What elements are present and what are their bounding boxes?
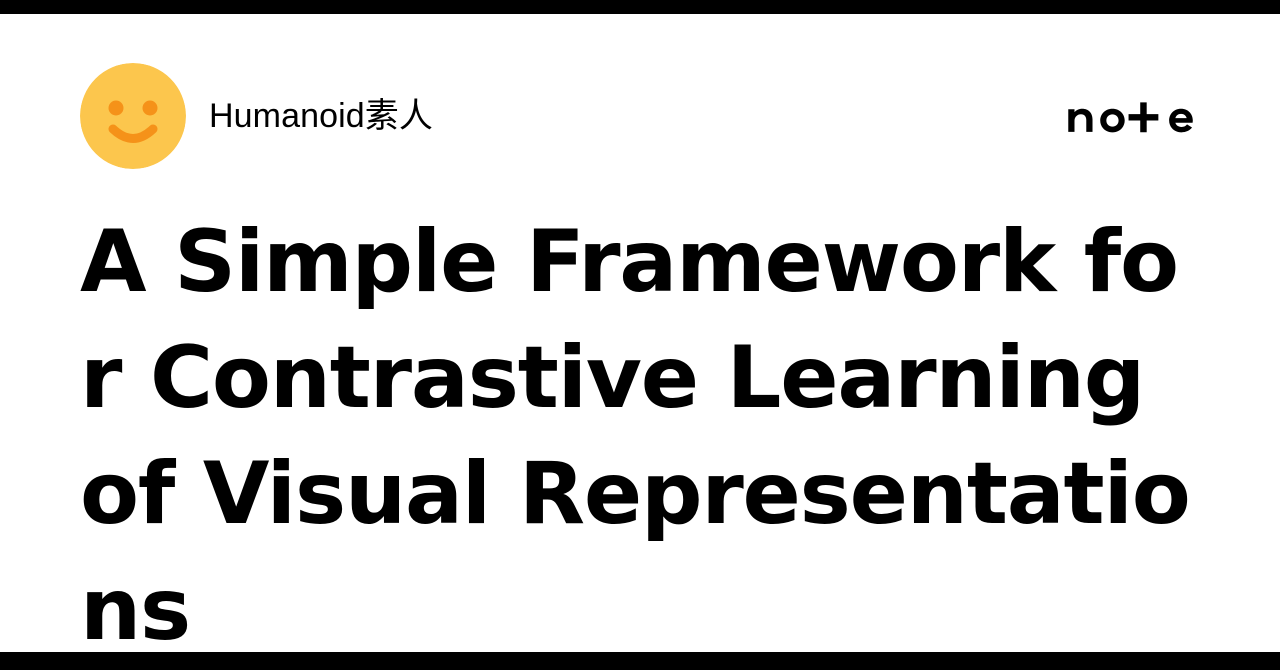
note-article-ogp-card: Humanoid素人 A Simple Framework for Contra… [0, 0, 1280, 670]
bottom-letterbox-bar [0, 652, 1280, 670]
article-header: Humanoid素人 [80, 63, 1200, 169]
top-letterbox-bar [0, 0, 1280, 14]
note-logo-icon[interactable] [1066, 99, 1200, 133]
author-name: Humanoid素人 [209, 99, 433, 133]
card-body: Humanoid素人 A Simple Framework for Contra… [0, 14, 1280, 652]
avatar[interactable] [80, 63, 186, 169]
article-title: A Simple Framework for Contrastive Learn… [80, 204, 1208, 668]
author-block[interactable]: Humanoid素人 [80, 63, 433, 169]
